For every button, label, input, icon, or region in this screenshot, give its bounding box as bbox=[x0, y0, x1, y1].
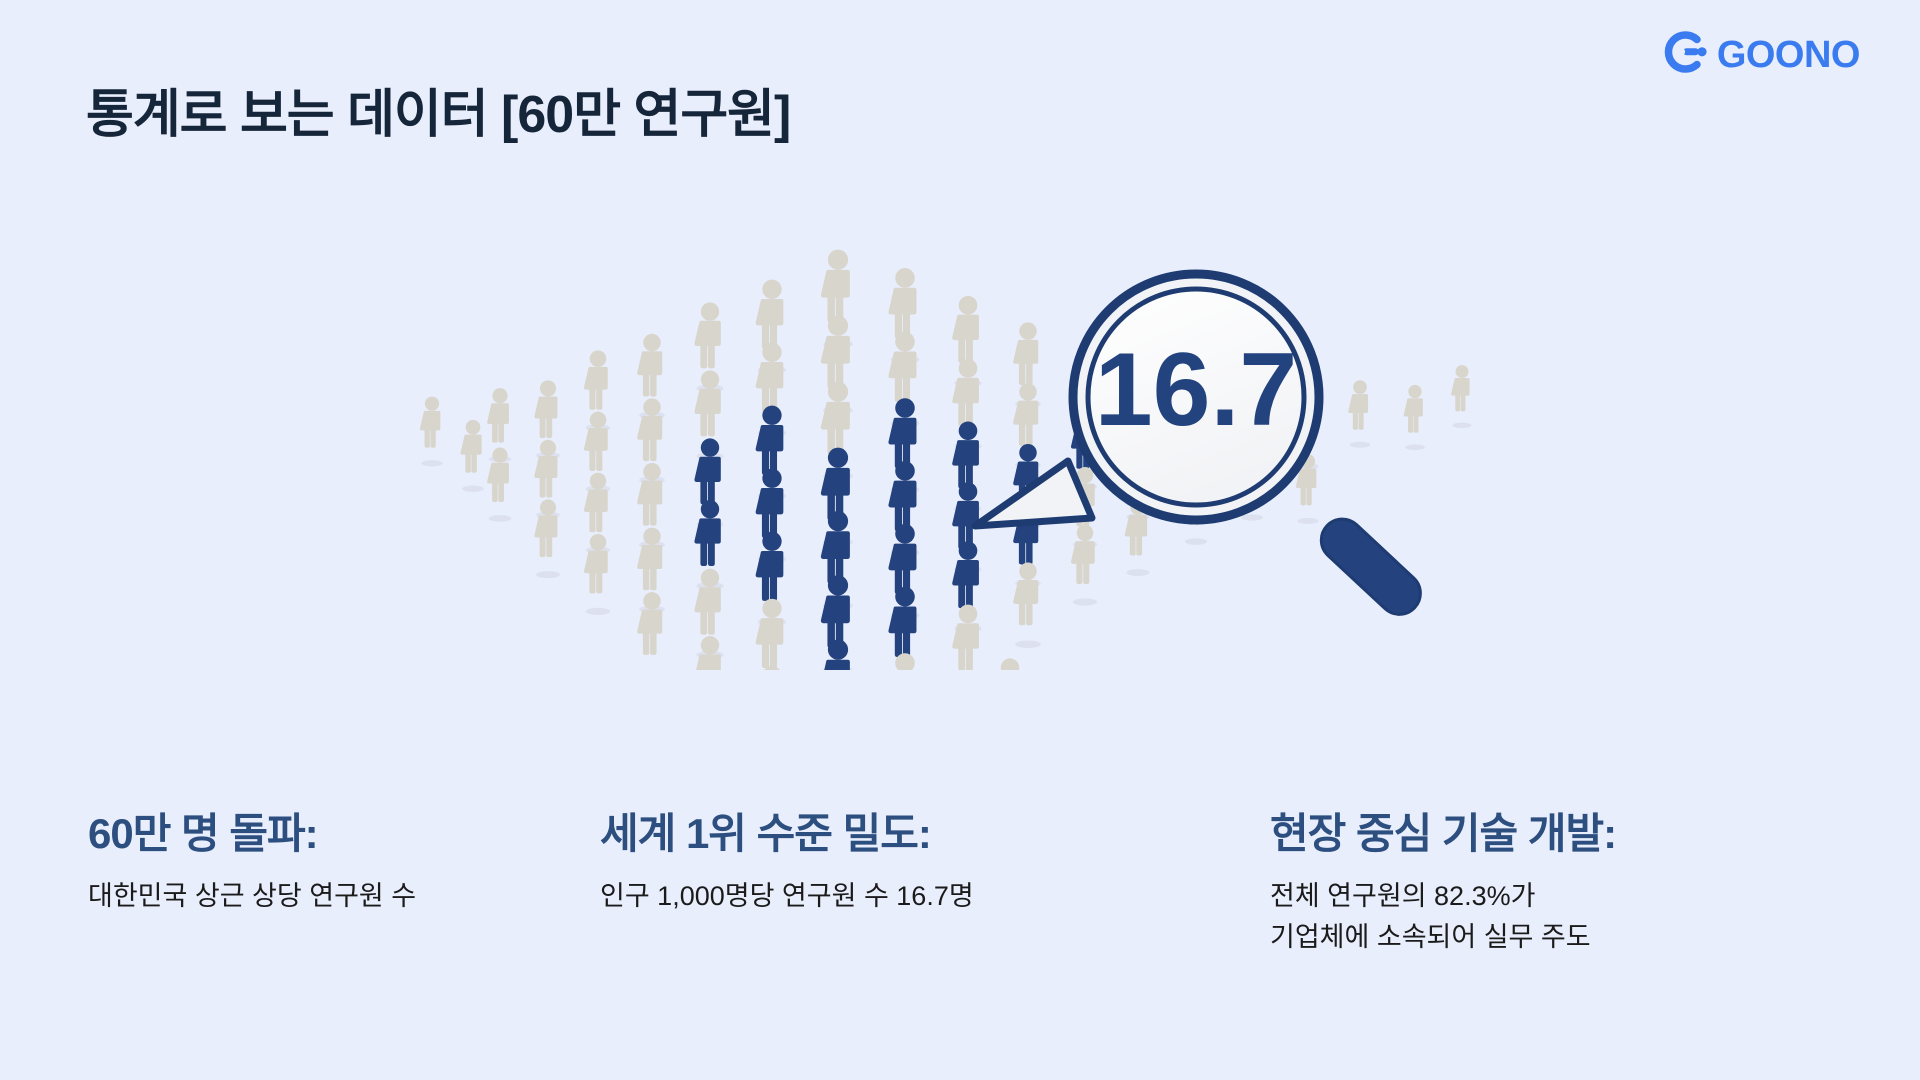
stat-body-line: 기업체에 소속되어 실무 주도 bbox=[1270, 917, 1920, 958]
stat-body: 전체 연구원의 82.3%가 기업체에 소속되어 실무 주도 bbox=[1270, 876, 1920, 957]
stat-body-line: 인구 1,000명당 연구원 수 16.7명 bbox=[600, 876, 1270, 917]
stat-heading: 세계 1위 수준 밀도: bbox=[600, 810, 1270, 858]
goono-g-icon bbox=[1661, 30, 1711, 79]
page-title: 통계로 보는 데이터 [60만 연구원] bbox=[86, 72, 790, 147]
stat-body-line: 전체 연구원의 82.3%가 bbox=[1270, 876, 1920, 917]
magnifier-callout: 16.7 bbox=[975, 274, 1429, 623]
stat-body: 대한민국 상근 상당 연구원 수 bbox=[88, 876, 600, 917]
brand-name: GOONO bbox=[1717, 36, 1860, 74]
stat-body: 인구 1,000명당 연구원 수 16.7명 bbox=[600, 876, 1270, 917]
stat-card-field-rnd: 현장 중심 기술 개발: 전체 연구원의 82.3%가 기업체에 소속되어 실무… bbox=[1270, 810, 1920, 957]
magnifier-value: 16.7 bbox=[1095, 332, 1297, 448]
stat-card-researchers-total: 60만 명 돌파: 대한민국 상근 상당 연구원 수 bbox=[0, 810, 600, 957]
brand-logo[interactable]: GOONO bbox=[1661, 30, 1860, 79]
stats-row: 60만 명 돌파: 대한민국 상근 상당 연구원 수 세계 1위 수준 밀도: … bbox=[0, 810, 1920, 957]
stat-card-world-density: 세계 1위 수준 밀도: 인구 1,000명당 연구원 수 16.7명 bbox=[600, 810, 1270, 957]
stat-body-line: 대한민국 상근 상당 연구원 수 bbox=[88, 876, 600, 917]
people-crowd-illustration: 16.7 bbox=[0, 170, 1920, 670]
stat-heading: 현장 중심 기술 개발: bbox=[1270, 810, 1920, 858]
crowd-figures bbox=[420, 250, 1472, 670]
stat-heading: 60만 명 돌파: bbox=[88, 810, 600, 858]
